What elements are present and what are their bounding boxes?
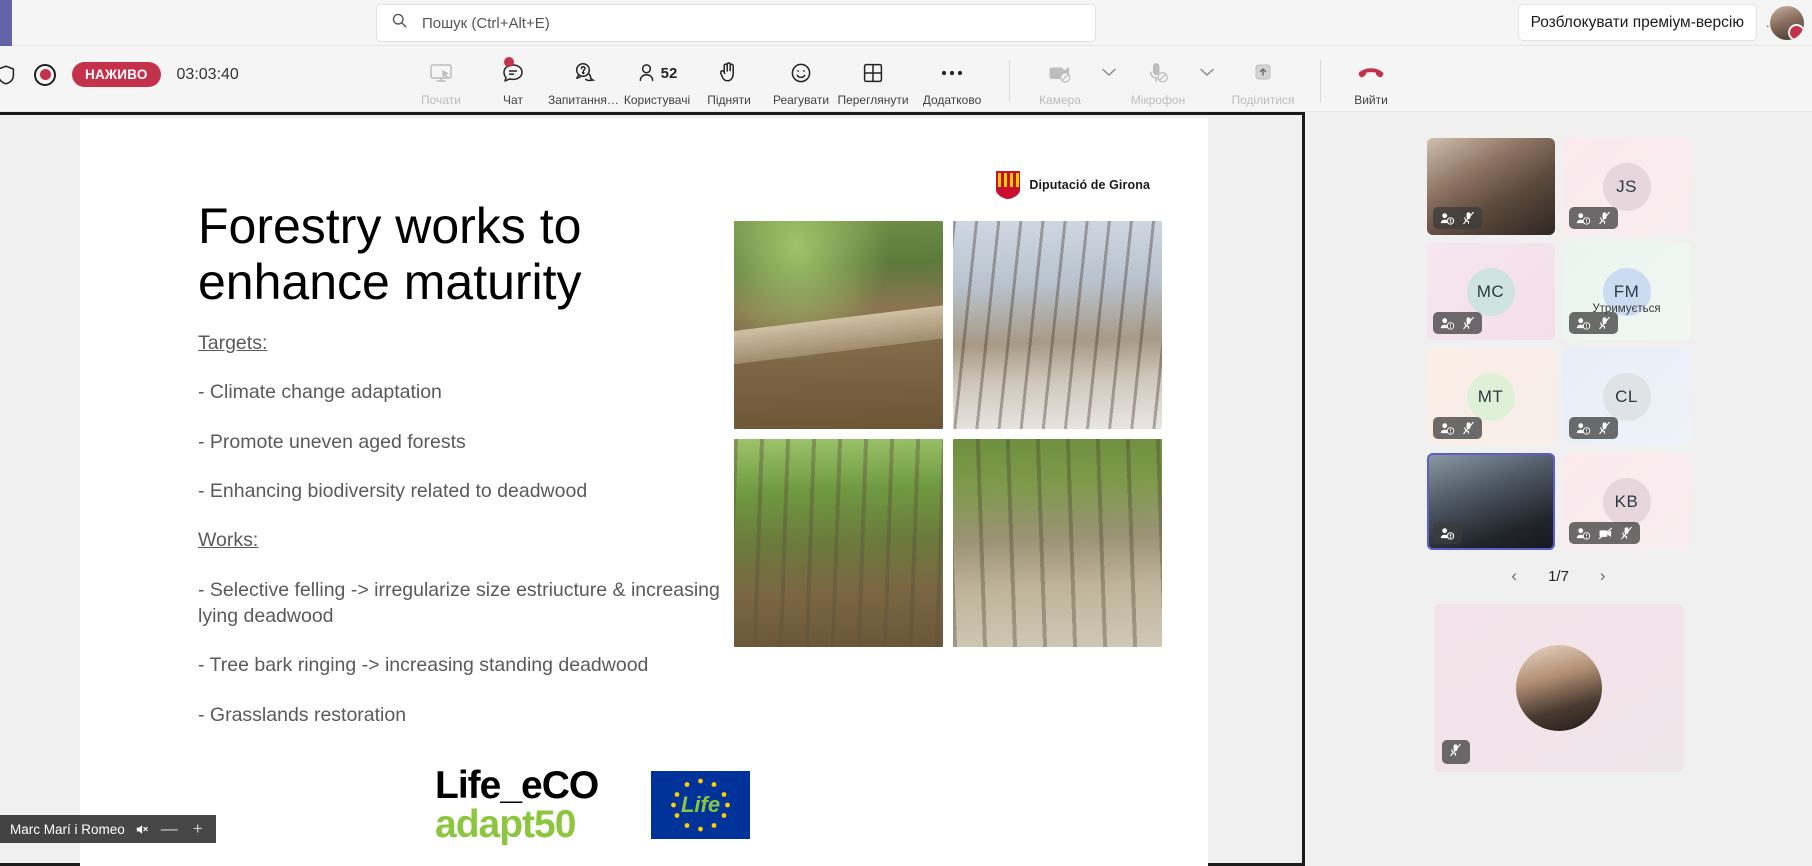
share-button[interactable]: Поділитися <box>1220 50 1306 107</box>
forest-fallen-log-photo <box>734 221 943 429</box>
share-label: Поділитися <box>1231 93 1294 107</box>
raise-hand-icon <box>717 58 741 88</box>
slide-line: - Grasslands restoration <box>198 702 758 728</box>
mic-muted-icon <box>1620 526 1633 540</box>
slide-line: - Selective felling -> irregularize size… <box>198 577 758 630</box>
slide-line: Targets: <box>198 330 758 356</box>
share-up-icon <box>1250 58 1276 88</box>
camera-off-icon <box>1047 58 1073 88</box>
microphone-options-chevron-down-icon[interactable] <box>1194 50 1220 77</box>
microphone-off-icon <box>1145 58 1171 88</box>
leave-label: Вийти <box>1354 93 1388 107</box>
footer-logos: Life_eCO adapt50 <box>435 766 750 844</box>
mic-muted-icon <box>1462 211 1475 225</box>
participant-tile[interactable] <box>1427 138 1555 235</box>
green-forest-slope-photo <box>734 439 943 647</box>
participant-tile[interactable]: FM Утримується <box>1563 243 1691 340</box>
people-badge-icon <box>1440 212 1455 225</box>
share-screen-label: Почати <box>421 93 461 107</box>
tile-controls <box>1569 312 1618 334</box>
more-button[interactable]: Додатково <box>909 50 995 107</box>
leave-button[interactable]: Вийти <box>1335 50 1407 107</box>
avatar: CL <box>1603 373 1651 421</box>
tile-controls <box>1569 417 1618 439</box>
slide-line: - Climate change adaptation <box>198 379 758 405</box>
mic-muted-icon <box>1598 211 1611 225</box>
mic-muted-icon <box>1462 316 1475 330</box>
search-icon <box>391 12 408 34</box>
reactions-button[interactable]: Реагувати <box>765 50 837 107</box>
microphone-label: Мікрофон <box>1131 93 1185 107</box>
chat-icon <box>500 58 526 88</box>
slide-line: - Promote uneven aged forests <box>198 429 758 455</box>
chat-label: Чат <box>503 93 523 107</box>
participant-tile[interactable]: CL <box>1563 348 1691 445</box>
participants-button[interactable]: 52 Користувачі <box>621 50 693 107</box>
sunlit-clearing-photo <box>953 439 1162 647</box>
meeting-timer: 03:03:40 <box>177 66 239 84</box>
life-logo-line2: adapt50 <box>435 805 631 844</box>
pager-next-button[interactable]: › <box>1595 564 1611 588</box>
presentation-slide: Diputació de Girona Forestry works to en… <box>80 118 1208 866</box>
qna-icon <box>572 58 598 88</box>
muted-speaker-icon <box>134 822 149 837</box>
shared-content-stage: Diputació de Girona Forestry works to en… <box>0 112 1305 866</box>
mic-muted-icon <box>1598 316 1611 330</box>
avatar: JS <box>1603 163 1651 211</box>
presenter-name-bar: Marc Marí i Romeo — + <box>0 815 216 843</box>
live-badge: НАЖИВО <box>72 62 161 87</box>
shield-icon <box>0 63 18 87</box>
shared-screen-frame: Diputació de Girona Forestry works to en… <box>0 112 1305 866</box>
meeting-toolbar: НАЖИВО 03:03:40 Почати <box>0 46 1812 112</box>
mic-muted-icon <box>1462 421 1475 435</box>
qna-button[interactable]: Запитання й… <box>549 50 621 107</box>
share-screen-icon <box>428 58 454 88</box>
slide-line: Works: <box>198 527 758 553</box>
reactions-icon <box>788 58 814 88</box>
people-badge-icon <box>1576 422 1591 435</box>
people-badge-icon <box>1576 317 1591 330</box>
participant-tile-active-speaker[interactable] <box>1427 453 1555 550</box>
mic-muted-icon <box>1598 421 1611 435</box>
avatar: MC <box>1467 268 1515 316</box>
participant-tile[interactable]: JS <box>1563 138 1691 235</box>
eu-logo-label: Life <box>681 792 720 818</box>
people-badge-icon <box>1576 527 1591 540</box>
tile-controls <box>1569 522 1640 544</box>
participant-tile[interactable]: MT <box>1427 348 1555 445</box>
user-avatar[interactable] <box>1770 6 1804 40</box>
camera-options-chevron-down-icon[interactable] <box>1096 50 1122 77</box>
participant-pager: ‹ 1/7 › <box>1313 564 1804 588</box>
pager-indicator: 1/7 <box>1548 568 1569 585</box>
slide-line: - Tree bark ringing -> increasing standi… <box>198 652 758 678</box>
tile-controls <box>1433 207 1482 229</box>
tile-controls <box>1433 522 1462 544</box>
camera-button[interactable]: Камера <box>1024 50 1096 107</box>
tile-controls <box>1433 312 1482 334</box>
recording-status-group: НАЖИВО 03:03:40 <box>0 62 239 87</box>
qna-label: Запитання й… <box>548 93 622 107</box>
raise-hand-label: Підняти <box>707 93 751 107</box>
life-logo-line1: Life_eCO <box>435 766 631 805</box>
people-badge-icon <box>1440 422 1455 435</box>
participant-tile-grid: JS <box>1313 138 1804 550</box>
life-ecoadapt-logo: Life_eCO adapt50 <box>435 766 631 844</box>
spotlight-controls <box>1442 740 1470 764</box>
view-grid-icon <box>861 58 885 88</box>
participant-tile[interactable]: MC <box>1427 243 1555 340</box>
raise-hand-button[interactable]: Підняти <box>693 50 765 107</box>
eu-life-logo: Life <box>651 771 750 839</box>
teams-meeting-window: Розблокувати преміум-версію · НАЖИВО 03:… <box>0 0 1812 866</box>
tile-controls <box>1433 417 1482 439</box>
avatar: KB <box>1603 478 1651 526</box>
unlock-premium-button[interactable]: Розблокувати преміум-версію <box>1518 4 1757 41</box>
people-badge-icon <box>1576 212 1591 225</box>
microphone-button[interactable]: Мікрофон <box>1122 50 1194 107</box>
avatar: MT <box>1467 373 1515 421</box>
zoom-out-button[interactable]: — <box>158 819 181 839</box>
search-input[interactable] <box>422 15 1081 32</box>
recording-indicator-icon <box>34 64 56 86</box>
participants-label: Користувачі <box>624 93 690 107</box>
spotlight-participant-tile[interactable] <box>1434 604 1684 772</box>
more-ellipsis-icon <box>939 58 965 88</box>
view-button[interactable]: Переглянути <box>837 50 909 107</box>
mic-muted-icon <box>1449 743 1462 762</box>
org-logo-label: Diputació de Girona <box>1029 178 1150 192</box>
spotlight-avatar <box>1516 645 1602 731</box>
hangup-icon <box>1356 58 1386 88</box>
slide-title: Forestry works to enhance maturity <box>198 198 718 310</box>
presenter-name: Marc Marí i Romeo <box>10 822 125 837</box>
org-logo: Diputació de Girona <box>995 170 1150 200</box>
chat-unread-badge <box>504 57 514 67</box>
people-badge-icon <box>1440 527 1455 540</box>
slide-photo-grid <box>734 221 1162 657</box>
more-label: Додатково <box>923 93 982 107</box>
toolbar-center-actions: Почати Чат <box>405 50 1407 107</box>
search-bar[interactable] <box>376 4 1096 42</box>
slide-body: Targets: - Climate change adaptation - P… <box>198 330 758 751</box>
reactions-label: Реагувати <box>773 93 829 107</box>
view-label: Переглянути <box>837 93 908 107</box>
share-screen-button[interactable]: Почати <box>405 50 477 107</box>
pager-prev-button[interactable]: ‹ <box>1506 564 1522 588</box>
toolbar-divider-2 <box>1320 60 1321 102</box>
participant-rail: JS <box>1305 112 1812 866</box>
chat-button[interactable]: Чат <box>477 50 549 107</box>
participants-count: 52 <box>661 65 678 82</box>
toolbar-divider <box>1009 60 1010 102</box>
app-accent-strip <box>0 0 12 46</box>
people-badge-icon <box>1440 317 1455 330</box>
title-bar: Розблокувати преміум-версію · <box>0 0 1812 46</box>
participant-tile[interactable]: KB <box>1563 453 1691 550</box>
zoom-in-button[interactable]: + <box>190 819 206 839</box>
girona-shield-icon <box>995 170 1021 200</box>
slide-line: - Enhancing biodiversity related to dead… <box>198 478 758 504</box>
winter-bare-trees-photo <box>953 221 1162 429</box>
people-icon: 52 <box>637 58 678 88</box>
camera-off-small-icon <box>1598 527 1613 540</box>
tile-controls <box>1569 207 1618 229</box>
camera-label: Камера <box>1039 93 1081 107</box>
